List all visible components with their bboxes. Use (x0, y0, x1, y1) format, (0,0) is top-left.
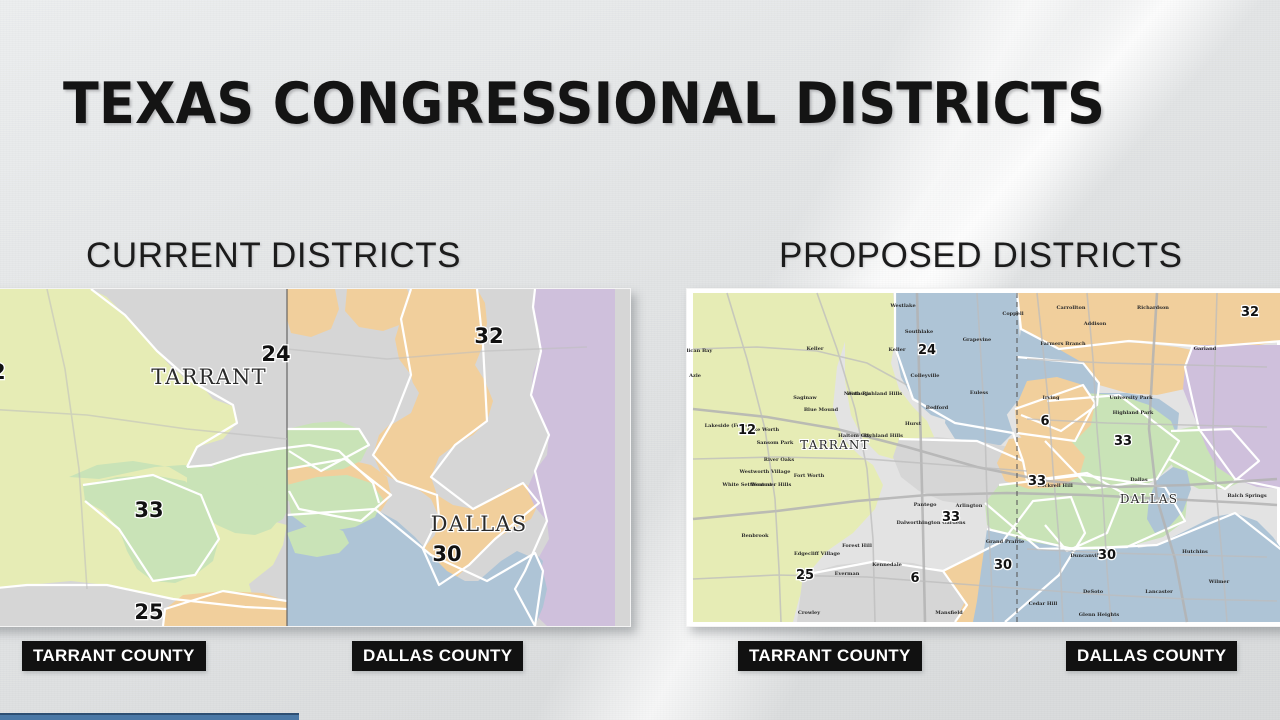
city-label: Fort Worth (794, 473, 825, 479)
city-label: Crowley (798, 610, 821, 616)
map-current-canvas: 2 TARRANT 24 32 33 25 DALLAS 30 (0, 289, 630, 626)
panel-title-current: CURRENT DISTRICTS (86, 238, 461, 273)
city-label: Keller (806, 346, 823, 352)
map-proposed-canvas: Pelican Bay Azle Lakeside (Forest) Lake … (687, 289, 1280, 626)
city-label: Blue Mound (804, 407, 839, 413)
district-number: 33 (1028, 474, 1046, 489)
county-label-dallas: DALLAS (1120, 492, 1178, 506)
city-label: Edgecliff Village (794, 551, 840, 557)
caption-proposed-tarrant: TARRANT COUNTY (738, 641, 922, 671)
map-proposed-districts[interactable]: Pelican Bay Azle Lakeside (Forest) Lake … (686, 288, 1280, 627)
city-label: Addison (1083, 321, 1107, 327)
city-label: Watauga (846, 391, 872, 397)
city-label: Dallas (1130, 477, 1148, 483)
city-label: Grand Prairie (986, 539, 1024, 545)
city-label: Cedar Hill (1029, 601, 1058, 607)
city-label: Bedford (926, 405, 949, 411)
county-label-tarrant: TARRANT (800, 438, 870, 452)
city-label: Hutchins (1182, 549, 1208, 555)
city-label: Hurst (905, 421, 922, 427)
city-label: Farmers Branch (1040, 341, 1086, 347)
city-label: University Park (1109, 395, 1153, 401)
city-label: Azle (688, 373, 701, 379)
city-label: Balch Springs (1227, 493, 1267, 499)
city-label: Pelican Bay (687, 348, 713, 354)
county-label-tarrant: TARRANT (151, 365, 267, 389)
district-number: 25 (134, 600, 163, 624)
city-label: DeSoto (1083, 589, 1104, 595)
city-label: River Oaks (764, 457, 795, 463)
city-label: Grapevine (963, 337, 991, 343)
district-number: 6 (1040, 414, 1049, 429)
district-number: 32 (474, 324, 503, 348)
map-current-districts[interactable]: 2 TARRANT 24 32 33 25 DALLAS 30 (0, 288, 631, 627)
city-label: Everman (835, 571, 860, 577)
city-label: Mansfield (935, 610, 963, 616)
city-label: Sansom Park (757, 440, 794, 446)
city-label: Westworth Village (739, 469, 791, 475)
city-label: Arlington (955, 503, 983, 509)
city-label: Highland Park (1113, 410, 1154, 416)
district-number: 25 (796, 568, 814, 583)
district-number: 12 (738, 423, 756, 438)
district-number: 30 (432, 542, 461, 566)
lower-third-accent-bar (0, 713, 299, 720)
city-label: Kennedale (872, 562, 902, 568)
page-title: TEXAS CONGRESSIONAL DISTRICTS (63, 76, 1105, 133)
caption-current-dallas: DALLAS COUNTY (352, 641, 523, 671)
district-number: 6 (910, 571, 919, 586)
district-number: 33 (942, 510, 960, 525)
city-label: Keller (888, 347, 905, 353)
caption-current-tarrant: TARRANT COUNTY (22, 641, 206, 671)
panel-title-proposed: PROPOSED DISTRICTS (779, 238, 1183, 273)
county-label-dallas: DALLAS (431, 512, 528, 536)
district-number: 33 (1114, 434, 1132, 449)
city-label: Glenn Heights (1079, 612, 1120, 618)
city-label: Southlake (905, 329, 933, 335)
city-label: Benbrook (741, 533, 769, 539)
city-label: Saginaw (793, 395, 817, 401)
district-number: 24 (918, 343, 936, 358)
city-label: Euless (970, 390, 988, 396)
city-label: Garland (1194, 346, 1217, 352)
district-number: 2 (0, 360, 6, 384)
city-label: Coppell (1002, 311, 1023, 317)
city-label: Westover Hills (750, 482, 792, 488)
district-number: 30 (1098, 548, 1116, 563)
city-label: Carrollton (1057, 305, 1086, 311)
city-label: Richardson (1137, 305, 1169, 311)
city-label: Colleyville (911, 373, 940, 379)
caption-proposed-dallas: DALLAS COUNTY (1066, 641, 1237, 671)
city-label: Wilmer (1208, 579, 1230, 585)
district-number: 32 (1241, 305, 1259, 320)
district-number: 24 (261, 342, 290, 366)
district-number: 30 (994, 558, 1012, 573)
city-label: Forest Hill (842, 543, 872, 549)
city-label: Irving (1043, 395, 1060, 401)
city-label: Pantego (914, 502, 937, 508)
district-number: 33 (134, 498, 163, 522)
city-label: Westlake (889, 303, 915, 309)
city-label: Lancaster (1145, 589, 1173, 595)
